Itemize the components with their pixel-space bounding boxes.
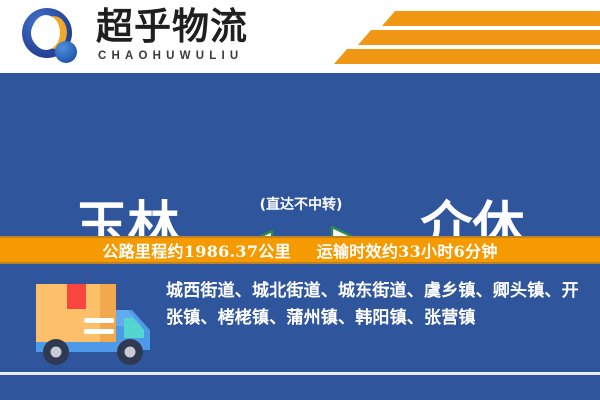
stripe-2 (358, 30, 600, 45)
brand-name-cn: 超乎物流 (96, 6, 276, 48)
stripe-3 (334, 49, 600, 64)
brand-text-block: 超乎物流 CHAOHUWULIU (96, 6, 276, 64)
banner-top-rule (0, 236, 600, 238)
brand-logo-icon (22, 8, 80, 66)
stripe-1 (382, 11, 600, 26)
route-panel: 玉林 (直达不中转) 【往返运输】 介休 (0, 76, 600, 234)
banner-text-row: 公路里程约1986.37公里 运输时效约33小时6分钟 (102, 238, 497, 262)
direct-note-label: (直达不中转) (222, 194, 380, 214)
duration-text: 运输时效约33小时6分钟 (317, 242, 498, 261)
delivery-truck-icon (24, 276, 156, 368)
speed-stripes-icon (328, 6, 600, 68)
logo-accent-dot (55, 41, 77, 63)
brand-name-pinyin: CHAOHUWULIU (96, 48, 276, 64)
coverage-panel: 城西街道、城北街道、城东街道、虞乡镇、卿头镇、开张镇、栲栳镇、蒲州镇、韩阳镇、张… (0, 264, 600, 400)
crescent-cut-shape (32, 15, 60, 50)
coverage-areas-text: 城西街道、城北街道、城东街道、虞乡镇、卿头镇、开张镇、栲栳镇、蒲州镇、韩阳镇、张… (166, 278, 582, 332)
distance-text: 公路里程约1986.37公里 (102, 242, 291, 261)
distance-banner: 公路里程约1986.37公里 运输时效约33小时6分钟 (0, 236, 600, 264)
bottom-divider (0, 372, 600, 375)
header-bar: 超乎物流 CHAOHUWULIU (0, 0, 600, 73)
logistics-route-card: 超乎物流 CHAOHUWULIU 玉林 (直达不中转) 【往返运输】 介休 公路… (0, 0, 600, 400)
